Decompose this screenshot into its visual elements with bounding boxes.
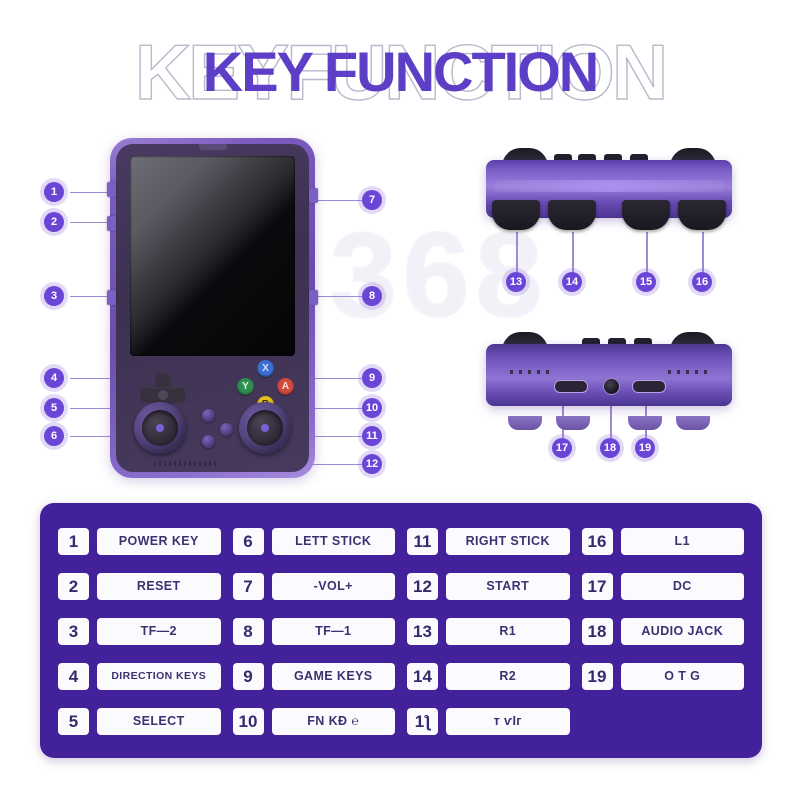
legend-number: 11 [407,528,438,555]
legend-number: 19 [582,663,613,690]
legend-row[interactable]: 17 DC [582,572,745,602]
legend-number: 17 [582,573,613,600]
bottom-vent-left [510,370,550,374]
legend-label: TF—2 [97,618,221,645]
legend-number: 3 [58,618,89,645]
button-y[interactable]: Y [237,378,254,395]
device-top-notch [199,144,227,150]
otg-usb-c-port[interactable] [632,380,666,393]
leader-line-16 [702,232,704,274]
callout-13[interactable]: 13 [506,272,526,292]
legend-label: O T G [621,663,745,690]
legend-column-1: 1 POWER KEY 2 RESET 3 TF—2 4 DIRECTION K… [58,519,221,744]
callout-16[interactable]: 16 [692,272,712,292]
right-analog-stick[interactable] [239,402,291,454]
legend-number: 5 [58,708,89,735]
legend-label: DIRECTION KEYS [97,663,221,690]
product-diagram: 368 X Y A B [0,120,800,500]
legend-label: R1 [446,618,570,645]
callout-2[interactable]: 2 [44,212,64,232]
legend-label: START [446,573,570,600]
right-stick-dot [261,424,269,432]
title-foreground-text: KEYFUNCTION [203,24,597,120]
legend-row[interactable]: 18 AUDIO JACK [582,617,745,647]
device-screen [130,156,295,356]
volume-nub[interactable] [309,188,318,203]
legend-row[interactable]: 16 L1 [582,527,745,557]
callout-17[interactable]: 17 [552,438,572,458]
legend-number: 18 [582,618,613,645]
callout-6[interactable]: 6 [44,426,64,446]
bottom-vent-right [668,370,708,374]
legend-number: 1 [58,528,89,555]
legend-label: LETT STICK [272,528,396,555]
button-x[interactable]: X [257,360,274,377]
legend-number: 9 [233,663,264,690]
legend-row[interactable]: 8 TF—1 [233,617,396,647]
legend-row[interactable]: 19 O T G [582,662,745,692]
button-a[interactable]: A [277,378,294,395]
legend-row[interactable]: 10 FN KƉ ℮ [233,707,396,737]
shoulder-button-r2[interactable] [548,200,596,230]
page-title: KEYFUNCTION KEYFUNCTION [0,24,800,120]
legend-number: 16 [582,528,613,555]
leader-line-15 [646,232,648,274]
bottom-foot-2 [556,416,590,430]
legend-number: 1ƪ [407,708,438,735]
callout-14[interactable]: 14 [562,272,582,292]
bottom-foot-3 [628,416,662,430]
legend-number: 13 [407,618,438,645]
bottom-edge-body [486,344,732,406]
left-stick-dot [156,424,164,432]
callout-18[interactable]: 18 [600,438,620,458]
legend-label: DC [621,573,745,600]
callout-15[interactable]: 15 [636,272,656,292]
leader-line-7 [316,200,362,201]
legend-row[interactable]: 3 TF—2 [58,617,221,647]
legend-row[interactable]: 9 GAME KEYS [233,662,396,692]
legend-label: -VOL+ [272,573,396,600]
legend-row[interactable]: 13 R1 [407,617,570,647]
callout-10[interactable]: 10 [362,398,382,418]
title-word-key: KEY [203,40,312,103]
device-top-edge-view [486,148,732,234]
top-edge-sheen [494,180,724,192]
legend-row[interactable]: 12 START [407,572,570,602]
legend-label: т ѵІг [446,708,570,735]
legend-row[interactable]: 7 -VOL+ [233,572,396,602]
legend-row[interactable]: 5 SELECT [58,707,221,737]
leader-line-14 [572,232,574,274]
speaker-grill [154,461,218,466]
legend-row[interactable]: 2 RESET [58,572,221,602]
audio-jack-port[interactable] [603,378,620,395]
reset-nub[interactable] [107,216,116,231]
legend-grid: 1 POWER KEY 2 RESET 3 TF—2 4 DIRECTION K… [58,519,744,744]
legend-label: FN KƉ ℮ [272,708,396,735]
legend-number: 6 [233,528,264,555]
leader-line-8 [316,296,362,297]
callout-19[interactable]: 19 [635,438,655,458]
legend-number: 10 [233,708,264,735]
left-analog-stick[interactable] [134,402,186,454]
device-bottom-edge-view [486,328,732,420]
callout-9[interactable]: 9 [362,368,382,388]
legend-row[interactable]: 1 POWER KEY [58,527,221,557]
shoulder-button-r1[interactable] [492,200,540,230]
legend-label: GAME KEYS [272,663,396,690]
start-button[interactable] [202,435,215,448]
callout-5[interactable]: 5 [44,398,64,418]
callout-12[interactable]: 12 [362,454,382,474]
callout-11[interactable]: 11 [362,426,382,446]
legend-row[interactable]: 11 RIGHT STICK [407,527,570,557]
bottom-foot-1 [508,416,542,430]
legend-column-4: 16 L1 17 DC 18 AUDIO JACK 19 O T G [582,519,745,744]
legend-column-2: 6 LETT STICK 7 -VOL+ 8 TF—1 9 GAME KEYS … [233,519,396,744]
bottom-foot-4 [676,416,710,430]
callout-7[interactable]: 7 [362,190,382,210]
legend-number: 2 [58,573,89,600]
tf2-slot-nub[interactable] [107,290,116,305]
legend-number: 8 [233,618,264,645]
legend-row[interactable]: 1ƪ т ѵІг [407,707,570,737]
tf1-slot-nub[interactable] [309,290,318,305]
legend-number: 14 [407,663,438,690]
key-function-legend-panel: 1 POWER KEY 2 RESET 3 TF—2 4 DIRECTION K… [40,503,762,758]
legend-number: 7 [233,573,264,600]
legend-label: AUDIO JACK [621,618,745,645]
legend-label: R2 [446,663,570,690]
legend-row[interactable]: 4 DIRECTION KEYS [58,662,221,692]
legend-label: SELECT [97,708,221,735]
callout-3[interactable]: 3 [44,286,64,306]
callout-4[interactable]: 4 [44,368,64,388]
legend-column-3: 11 RIGHT STICK 12 START 13 R1 14 R2 1ƪ т… [407,519,570,744]
shoulder-button-l1[interactable] [678,200,726,230]
callout-8[interactable]: 8 [362,286,382,306]
dc-usb-c-port[interactable] [554,380,588,393]
title-word-function: FUNCTION [324,40,597,103]
select-button[interactable] [202,409,215,422]
dpad-center [158,390,168,400]
legend-number: 4 [58,663,89,690]
device-front-body: X Y A B [116,144,309,472]
callout-1[interactable]: 1 [44,182,64,202]
leader-line-13 [516,232,518,274]
legend-label: TF—1 [272,618,396,645]
function-button[interactable] [220,423,233,436]
legend-label: RESET [97,573,221,600]
shoulder-button-l2[interactable] [622,200,670,230]
legend-label: POWER KEY [97,528,221,555]
legend-label: RIGHT STICK [446,528,570,555]
legend-row[interactable]: 6 LETT STICK [233,527,396,557]
legend-label: L1 [621,528,745,555]
power-key-nub[interactable] [107,182,116,197]
legend-row[interactable]: 14 R2 [407,662,570,692]
legend-number: 12 [407,573,438,600]
device-front-view: X Y A B [110,138,315,478]
